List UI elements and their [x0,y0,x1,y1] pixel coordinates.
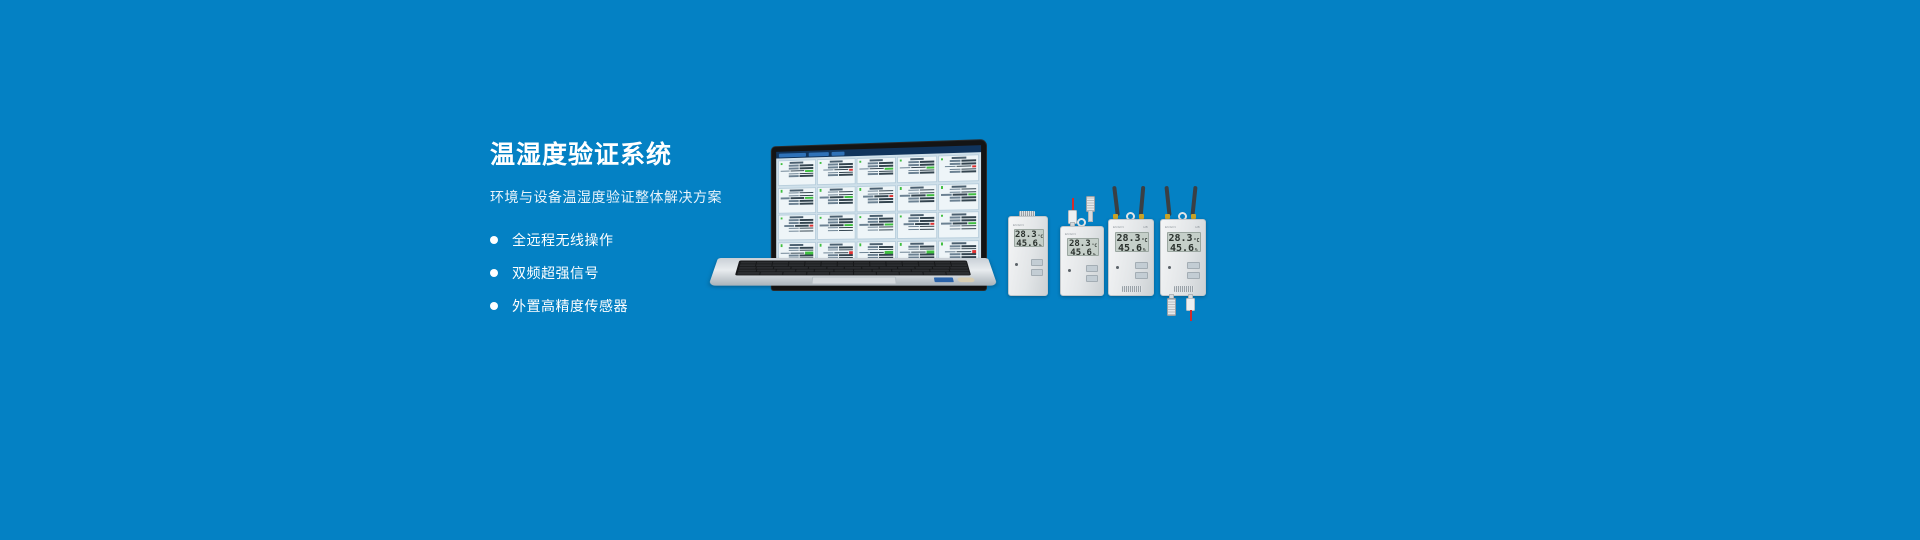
lcd-humidity-unit: % [1093,254,1096,257]
sensor-field-value [957,251,972,253]
device-vent-grill [1174,286,1194,292]
sensor-status-ok-badge [805,197,813,199]
antenna-right [1190,186,1197,216]
sensor-field-value [962,228,977,230]
sensor-card-title [952,185,966,187]
lcd-humidity-value: 45.6 [1170,244,1194,252]
keyboard-key[interactable] [854,272,876,274]
sensor-field-value [799,203,813,205]
sensor-card-field [859,201,893,204]
sensor-status-led-icon [819,217,821,219]
sensor-field-value [911,195,925,197]
sensor-status-led-icon [780,217,782,219]
sensor-field-label [789,165,799,167]
sensor-field-label [908,220,918,222]
sensor-card[interactable] [939,183,980,211]
sensor-field-value [962,217,977,219]
device-button-up[interactable] [1187,262,1200,269]
sensor-field-label [950,191,961,193]
sensor-status-ok-badge [885,251,893,253]
device-button-up[interactable] [1031,259,1043,266]
sensor-field-label [789,192,799,194]
sensor-status-led-icon [859,160,861,162]
sensor-field-label [950,160,961,162]
sensor-card-title [790,189,803,191]
device-status-led [1168,266,1171,269]
device-model-label: HB [1143,225,1148,229]
sensor-field-value [870,252,884,254]
sensor-field-value [799,200,813,202]
sensor-field-label [950,217,961,219]
sensor-status-ok-badge [926,166,934,168]
keyboard-key[interactable] [760,272,783,274]
sensor-field-value [791,252,805,254]
sensor-card-title [952,214,966,216]
sensor-field-label [900,195,910,197]
sensor-status-alarm-badge [810,224,814,226]
sensor-status-ok-badge [845,224,853,226]
bullet-dot-icon [490,269,498,277]
sensor-field-value [952,222,967,224]
sensor-field-label [828,194,838,196]
sensor-status-led-icon [780,190,782,192]
sensor-status-led-icon [941,214,943,217]
sensor-field-label [789,250,799,252]
sensor-card-title [869,243,883,245]
sensor-field-label [789,230,799,232]
sensor-status-led-icon [900,215,902,217]
sensor-field-value [962,254,977,256]
sensor-status-ok-badge [885,223,893,225]
sensor-field-label [789,203,799,205]
sensor-field-value [879,249,894,251]
sensor-card-title [790,244,803,246]
sensor-field-value [879,254,894,256]
sensor-field-label [950,254,961,256]
sensor-field-value [799,247,813,249]
lcd-temperature-unit: °C [1092,245,1097,250]
sensor-status-alarm-badge [973,165,977,167]
device-body: ENGIN 28.3 °C 45.6 % [1060,226,1104,296]
sensor-card[interactable] [817,186,855,213]
sensor-field-value [920,254,935,256]
sensor-card[interactable] [857,213,896,240]
sensor-field-label [789,247,799,249]
antenna-left [1112,186,1120,216]
device-button-down[interactable] [1086,275,1098,282]
device-button-up[interactable] [1086,265,1098,272]
sensor-card[interactable] [897,212,937,239]
sensor-card-field [900,228,935,230]
lcd-temperature-unit: °C [1038,236,1043,241]
keyboard-key[interactable] [784,272,807,274]
sensor-field-label [823,252,833,254]
sensor-field-label [941,223,951,225]
device-body: ENGIN HB 28.3 °C 45.6 % [1160,219,1206,296]
sensor-field-value [799,219,813,221]
sensor-field-value [799,250,813,252]
sensor-card-title [829,188,842,190]
sensor-field-value [911,251,925,253]
keyboard-key[interactable] [946,272,969,274]
sensor-status-led-icon [941,186,943,189]
lcd-humidity-value: 45.6 [1016,240,1038,247]
sensor-status-alarm-badge [890,195,894,197]
sensor-field-label [828,202,838,204]
device-lcd-display: 28.3 °C 45.6 % [1067,238,1099,256]
sensor-field-label [780,170,790,172]
sensor-card[interactable] [817,158,855,185]
sensor-status-alarm-badge [931,223,935,225]
device-status-led [1068,269,1071,272]
sensor-field-label [828,172,838,174]
bullet-dot-icon [490,302,498,310]
lcd-humidity-row: 45.6 % [1068,249,1098,256]
sensor-field-label [868,254,878,256]
sensor-field-label [950,197,961,199]
keyboard-key[interactable] [737,272,760,274]
laptop-base [708,258,997,286]
sensor-field-value [834,252,848,254]
sensor-status-ok-badge [885,167,893,169]
sensor-card-field [941,228,977,230]
sensor-card[interactable] [939,154,980,182]
laptop-keyboard[interactable] [735,260,971,275]
keyboard-key[interactable] [807,272,829,274]
sensor-field-label [819,197,829,199]
sensor-field-value [962,245,977,247]
sensor-field-value [962,225,977,227]
sensor-field-value [839,249,853,251]
sensor-field-value [799,175,813,177]
sensor-field-label [819,224,829,226]
sensor-field-label [828,191,838,193]
sensor-field-value [920,217,935,219]
sensor-field-value [839,227,853,229]
sensor-field-value [920,172,935,174]
keyboard-key[interactable] [830,272,852,274]
sensor-field-value [962,196,977,198]
sensor-field-label [950,245,961,247]
sensor-status-led-icon [859,216,861,218]
device-brand-label: ENGIN [1165,225,1176,229]
sensor-field-label [868,221,878,223]
sensor-status-alarm-badge [973,250,977,252]
sensor-field-value [795,225,809,227]
sensor-field-label [859,224,869,226]
sensor-field-value [879,198,894,200]
sensor-field-label [950,168,961,170]
topbar-menu-monitor[interactable] [779,152,806,157]
lcd-humidity-row: 45.6 % [1116,244,1148,252]
sensor-field-label [828,174,838,176]
sensor-field-value [920,200,935,202]
sensor-field-label [908,200,918,202]
device-button-down[interactable] [1135,272,1148,279]
sensor-field-label [908,192,918,194]
sensor-field-label [908,189,918,191]
sensor-field-label [908,249,918,251]
sensor-card-title [829,243,842,245]
sensor-field-value [915,223,930,225]
lcd-humidity-value: 45.6 [1118,244,1142,252]
sensor-card-title [869,187,883,189]
sensor-card[interactable] [939,211,980,239]
sensor-field-value [799,255,813,257]
sensor-field-label [950,225,961,227]
sensor-field-label [950,188,961,190]
sensor-field-label [828,230,838,232]
sensor-field-label [828,199,838,201]
sensor-card[interactable] [897,156,937,184]
device-brand-label: ENGIN [1113,225,1124,229]
lcd-humidity-unit: % [1143,249,1146,252]
sensor-card-title [910,243,924,245]
antenna-right [1139,186,1146,216]
sensor-field-label [868,190,878,192]
sensor-field-value [830,224,844,226]
sensor-field-label [789,200,799,202]
sensor-field-label [908,218,918,220]
sensor-field-label [784,225,794,227]
sensor-field-label [950,248,961,250]
sensor-field-value [799,230,813,232]
keyboard-row [737,272,969,274]
sensor-field-label [945,251,956,253]
sensor-field-label [859,168,869,170]
sensor-field-label [868,162,878,164]
device-wireless-logger-left: ENGIN HB 28.3 °C 45.6 % [1108,186,1154,296]
sensor-field-value [799,192,813,194]
sensor-card-title [829,216,842,218]
sensor-card-field [941,170,977,173]
lcd-humidity-unit: % [1039,245,1042,248]
sensor-card-field [900,172,935,175]
sensor-field-value [839,230,853,232]
sensor-card-title [869,215,883,217]
sensor-field-value [962,199,977,201]
sensor-card[interactable] [857,157,896,185]
sensor-card[interactable] [897,184,937,212]
device-wireless-logger-right: ENGIN HB 28.3 °C 45.6 % [1160,186,1206,320]
sensor-status-led-icon [900,187,902,190]
sensor-field-label [789,228,799,230]
device-vent-grill [1122,286,1142,292]
sensor-status-ok-badge [968,222,977,224]
sensor-field-label [868,165,878,167]
sensor-field-label [828,249,838,251]
sensor-field-value [879,190,894,192]
sensor-field-value [920,189,935,191]
laptop-sticker-blue [934,277,954,282]
probe-stem [1088,210,1093,222]
sensor-field-value [839,174,853,176]
laptop-sticker-gold [957,277,975,282]
sensor-card[interactable] [778,187,816,214]
sensor-card-field [900,200,935,203]
device-body: ENGIN 28.3 °C 45.6 % [1008,216,1048,296]
sensor-card-field [859,173,893,176]
sensor-field-label [828,247,838,249]
sensor-card-field [819,229,853,231]
sensor-field-label [900,167,910,169]
sensor-card-field [780,230,813,232]
sensor-field-value [879,246,894,248]
sensor-field-label [789,175,799,177]
topbar-menu-help[interactable] [832,151,845,155]
sensor-status-led-icon [859,188,861,190]
sensor-field-value [879,229,894,231]
sensor-field-value [920,228,935,230]
sensor-card[interactable] [778,214,816,241]
bullet-dot-icon [490,236,498,244]
sensor-field-value [870,224,884,226]
sensor-field-label [908,169,918,171]
sensor-field-label [868,201,878,203]
sensor-field-label [828,219,838,221]
sensor-field-label [868,173,878,175]
sensor-field-label [868,246,878,248]
sensor-field-label [868,193,878,195]
sensor-field-label [908,161,918,163]
sensor-field-label [789,195,799,197]
antenna-left [1164,186,1171,216]
sensor-card-field [819,202,853,205]
device-body: ENGIN HB 28.3 °C 45.6 % [1108,219,1154,296]
device-lcd-display: 28.3 °C 45.6 % [1115,232,1149,252]
device-button-up[interactable] [1135,262,1148,269]
device-status-led [1015,263,1018,266]
sensor-field-label [828,227,838,229]
sensor-card-field [780,252,813,254]
sensor-card-field [780,175,813,178]
sensor-field-label [789,173,799,175]
sensor-card-grid [776,152,981,270]
sensor-field-label [859,252,869,254]
lcd-humidity-row: 45.6 % [1168,244,1200,252]
sensor-field-label [868,171,878,173]
sensor-field-label [950,200,961,202]
product-banner: 温湿度验证系统 环境与设备温湿度验证整体解决方案 全远程无线操作 双频超强信号 … [0,0,1920,540]
sensor-field-label [945,166,956,168]
sensor-field-label [823,169,833,171]
sensor-card[interactable] [817,214,855,241]
sensor-field-value [879,226,894,228]
sensor-field-value [799,227,813,229]
probe-wire-red [1190,310,1192,321]
sensor-status-led-icon [819,244,821,246]
sensor-field-label [868,249,878,251]
sensor-field-label [868,229,878,231]
sensor-field-value [879,218,894,220]
lcd-humidity-value: 45.6 [1070,249,1092,256]
sensor-field-value [839,219,853,221]
sensor-field-label [908,164,918,166]
sensor-card[interactable] [857,185,896,212]
device-model-label: HB [1195,225,1200,229]
sensor-field-label [863,196,873,198]
sensor-field-value [920,226,935,228]
feature-label: 全远程无线操作 [512,230,614,250]
lcd-temperature-unit: °C [1194,239,1200,244]
sensor-field-value [874,196,888,198]
sensor-status-led-icon [859,244,861,246]
sensor-field-label [828,222,838,224]
sensor-status-led-icon [941,158,943,161]
sensor-field-value [839,246,853,248]
sensor-field-label [828,255,838,257]
sensor-card-title [790,216,803,218]
laptop-illustration: HUAWEI [718,140,988,300]
sensor-field-label [950,220,961,222]
sensor-field-label [780,198,790,200]
sensor-status-led-icon [780,163,782,165]
sensor-field-label [908,172,918,174]
sensor-status-led-icon [819,189,821,191]
sensor-status-ok-badge [968,193,977,195]
sensor-status-led-icon [780,245,782,247]
sensor-field-value [830,197,844,199]
sensor-status-ok-badge [805,252,813,254]
lcd-temperature-unit: °C [1142,239,1148,244]
device-lcd-display: 28.3 °C 45.6 % [1167,232,1201,252]
sensor-field-label [789,255,799,257]
sensor-card-field [780,202,813,205]
keyboard-key[interactable] [923,272,946,274]
sensor-field-value [791,197,805,199]
sensor-card-title [910,214,924,216]
sensor-field-value [879,201,894,203]
device-brand-label: ENGIN [1013,223,1024,227]
sensor-field-value [839,199,853,201]
sensor-field-label [941,194,951,196]
sensor-card[interactable] [778,159,816,186]
sensor-field-value [839,202,853,204]
sensor-field-value [920,246,935,248]
topbar-menu-data[interactable] [809,152,829,156]
keyboard-key[interactable] [900,272,923,274]
sensor-field-label [908,198,918,200]
sensor-field-label [868,199,878,201]
sensor-status-led-icon [900,243,902,245]
device-data-logger-probe: ENGIN 28.3 °C 45.6 % [1060,200,1104,296]
sensor-field-value [952,194,967,196]
laptop-trackpad[interactable] [811,277,896,285]
sensor-field-value [962,248,977,250]
keyboard-key[interactable] [877,272,899,274]
sensor-field-label [908,254,918,256]
sensor-field-value [962,171,977,173]
sensor-field-label [908,229,918,231]
sensor-status-led-icon [941,243,943,246]
sensor-field-label [950,171,961,173]
device-button-down[interactable] [1031,269,1043,276]
lcd-humidity-row: 45.6 % [1015,240,1043,247]
sensor-field-label [908,226,918,228]
sensor-status-led-icon [819,161,821,163]
sensor-card-field [819,174,853,177]
sensor-field-label [828,166,838,168]
sensor-field-value [879,173,894,175]
probe-sensor-metal [1167,298,1176,316]
sensor-field-label [789,222,799,224]
device-button-down[interactable] [1187,272,1200,279]
sensor-field-label [900,251,910,253]
sensor-card-field [859,229,893,231]
device-status-led [1116,266,1119,269]
sensor-field-label [868,218,878,220]
sensor-card-title [952,242,966,244]
